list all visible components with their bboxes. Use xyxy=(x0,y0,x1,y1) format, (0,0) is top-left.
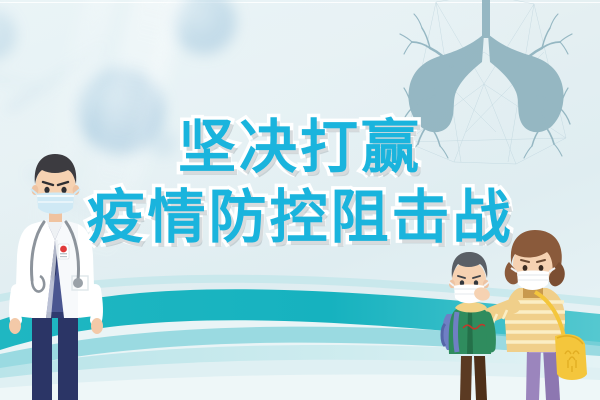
lungs-bronchial-illustration xyxy=(366,0,600,172)
boy-character xyxy=(442,252,492,400)
poster-canvas: 坚决打赢 疫情防控阻击战 xyxy=(0,0,600,400)
doctor-character xyxy=(2,140,112,400)
mother-and-boy-characters xyxy=(435,228,600,400)
